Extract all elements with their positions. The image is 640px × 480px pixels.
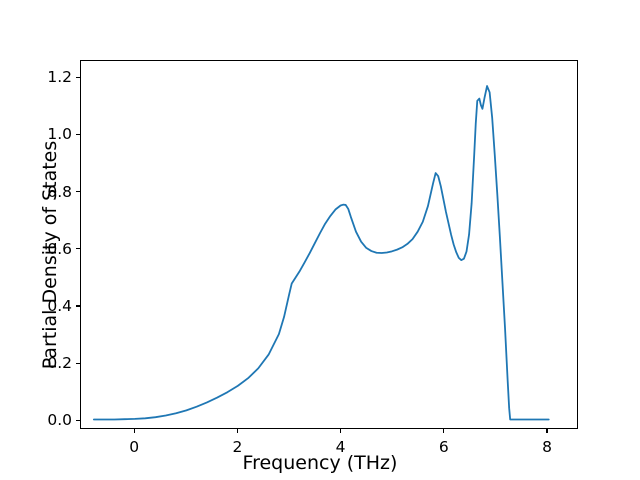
pdos-curve: [81, 61, 577, 428]
x-tick-mark: [546, 429, 547, 433]
x-tick-mark: [237, 429, 238, 433]
y-tick-mark: [76, 134, 80, 135]
figure-canvas: 0.00.20.40.60.81.01.2 02468 Frequency (T…: [0, 0, 640, 480]
y-tick-mark: [76, 248, 80, 249]
plot-area: [80, 60, 578, 429]
x-axis-label: Frequency (THz): [0, 452, 640, 474]
x-tick-mark: [443, 429, 444, 433]
y-tick-mark: [76, 77, 80, 78]
y-tick-mark: [76, 420, 80, 421]
x-tick-mark: [340, 429, 341, 433]
x-tick-mark: [134, 429, 135, 433]
y-axis-label: Partial Density of States: [39, 55, 61, 455]
y-tick-mark: [76, 191, 80, 192]
y-tick-mark: [76, 363, 80, 364]
y-tick-mark: [76, 305, 80, 306]
